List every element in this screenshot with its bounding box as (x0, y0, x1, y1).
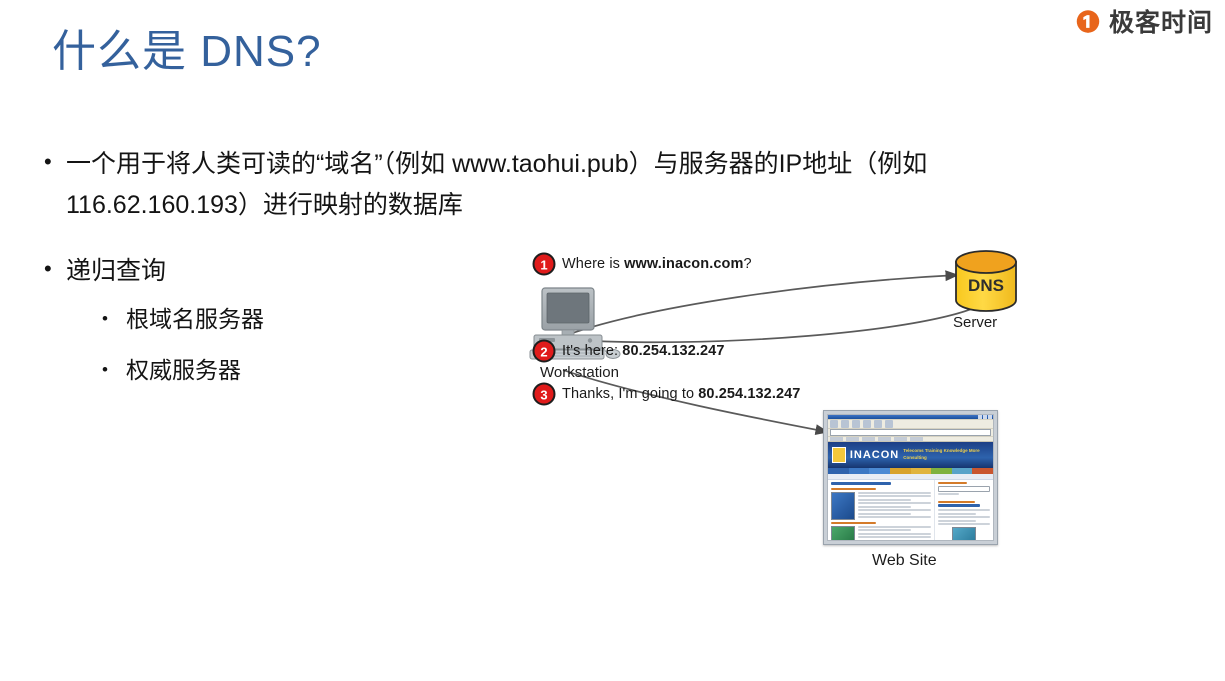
page-title: 什么是 DNS? (52, 26, 322, 79)
step-badge-1: 1 (534, 254, 555, 275)
site-article-1 (831, 492, 931, 520)
step-1-caption: Where is www.inacon.com? (562, 256, 752, 272)
step-badge-3: 3 (534, 384, 555, 405)
site-main-column (828, 480, 934, 541)
site-sidebar (934, 480, 993, 541)
book-cover-icon (831, 492, 855, 520)
step-2-prefix: It's here: (562, 343, 622, 359)
brand-name: 极客时间 (1109, 11, 1213, 36)
bullet-marker: • (102, 302, 126, 337)
bullet-marker: • (102, 353, 126, 388)
browser-toolbar (828, 420, 993, 429)
bullet-text: 根域名服务器 (126, 302, 264, 338)
step-2-strong: 80.254.132.247 (622, 343, 724, 359)
site-logo-icon (832, 447, 846, 463)
site-subheading-line-2 (831, 522, 876, 524)
brand-logo: 极客时间 (1073, 8, 1213, 38)
svg-text:DNS: DNS (968, 276, 1004, 295)
bullet-item-definition: • 一个用于将人类可读的“域名”（例如 www.taohui.pub）与服务器的… (44, 144, 1004, 225)
geektime-logo-icon (1073, 8, 1103, 38)
bullet-text: 一个用于将人类可读的“域名”（例如 www.taohui.pub）与服务器的IP… (66, 144, 1004, 225)
website-thumbnail: INACON Telecoms Training Knowledge More … (823, 410, 998, 545)
website-label: Web Site (872, 552, 937, 570)
database-cylinder-icon: DNS (956, 251, 1016, 311)
step-1-prefix: Where is (562, 256, 624, 272)
step-3-strong: 80.254.132.247 (698, 386, 800, 402)
svg-text:3: 3 (540, 388, 547, 403)
browser-address-bar (828, 429, 993, 437)
step-3-prefix: Thanks, I'm going to (562, 386, 698, 402)
step-2-caption: It's here: 80.254.132.247 (562, 343, 725, 359)
bullet-marker: • (44, 251, 66, 287)
book-cover-icon (831, 526, 855, 542)
site-columns (828, 480, 993, 541)
step-badge-2: 2 (534, 341, 555, 362)
bullet-marker: • (44, 144, 66, 180)
site-tagline: Telecoms Training Knowledge More Consult… (903, 448, 989, 462)
site-heading-line (831, 482, 891, 485)
book-cover-icon (952, 527, 976, 541)
site-subheading-line (831, 488, 876, 490)
svg-text:1: 1 (540, 258, 547, 273)
arrow-query-to-dns (556, 275, 958, 339)
svg-text:2: 2 (540, 345, 547, 360)
dns-flow-diagram: DNS 1 2 3 Where is www.inacon.com? It's … (520, 244, 1040, 584)
site-article-2 (831, 526, 931, 542)
step-3-caption: Thanks, I'm going to 80.254.132.247 (562, 386, 800, 402)
site-banner: INACON Telecoms Training Knowledge More … (828, 442, 993, 468)
dns-server-label: Server (953, 314, 997, 331)
arrow-response-to-workstation (562, 302, 986, 342)
website-page-content: INACON Telecoms Training Knowledge More … (828, 442, 993, 541)
browser-window-icon: INACON Telecoms Training Knowledge More … (827, 414, 994, 541)
step-1-strong: www.inacon.com (624, 256, 743, 272)
workstation-label: Workstation (540, 364, 619, 381)
step-1-suffix: ? (743, 256, 751, 272)
bullet-text: 权威服务器 (126, 353, 241, 389)
site-wordmark: INACON (850, 449, 899, 461)
